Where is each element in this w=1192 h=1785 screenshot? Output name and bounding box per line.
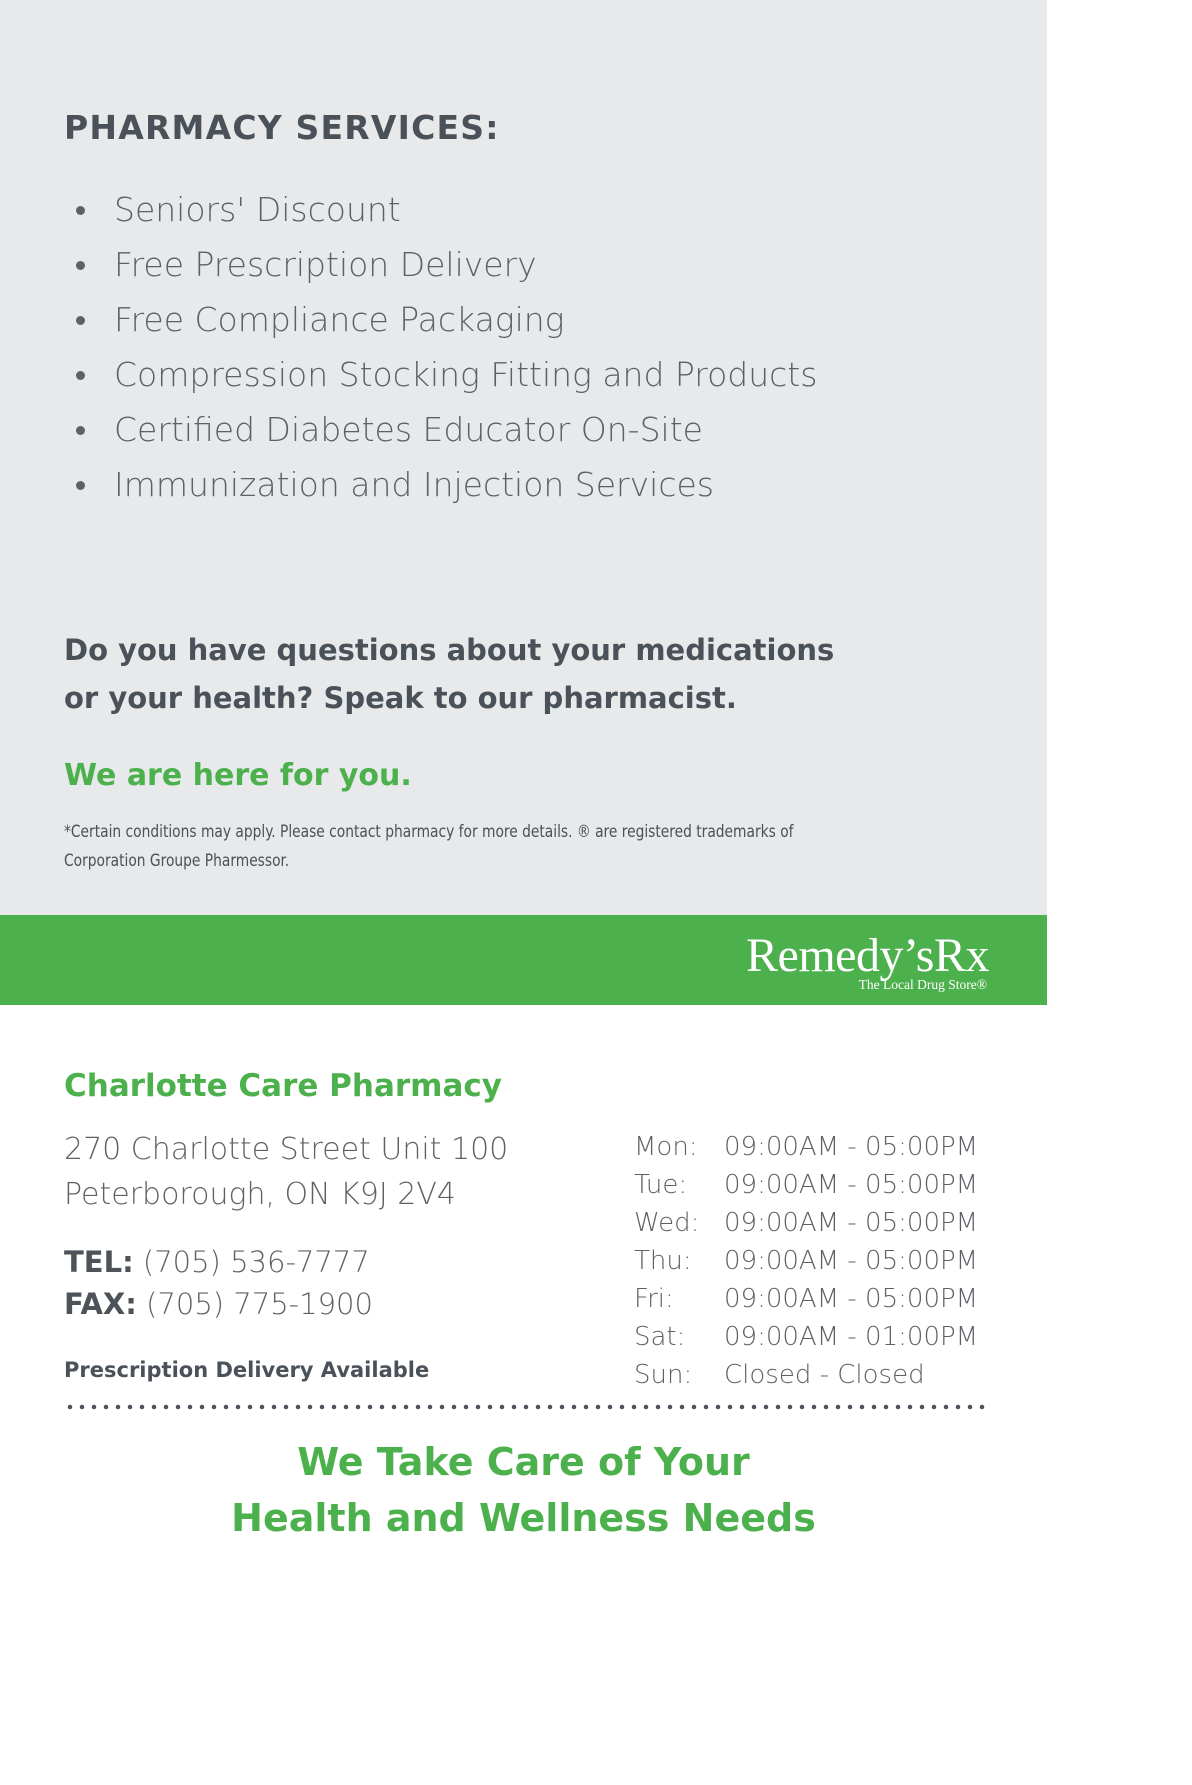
fax-row: FAX: (705) 775-1900	[64, 1283, 373, 1325]
table-row: Wed: 09:00AM - 05:00PM	[634, 1204, 978, 1242]
list-item: Free Prescription Delivery	[64, 237, 817, 292]
bullet-icon	[76, 206, 85, 215]
hours-day-value: Closed - Closed	[724, 1356, 978, 1394]
question-line-2: or your health? Speak to our pharmacist.	[64, 674, 834, 722]
store-hours-table: Mon: 09:00AM - 05:00PM Tue: 09:00AM - 05…	[634, 1128, 978, 1394]
dotted-divider	[64, 1404, 988, 1410]
telephone-row: TEL: (705) 536-7777	[64, 1241, 373, 1283]
page-title: PHARMACY SERVICES:	[64, 108, 500, 147]
question-line-1: Do you have questions about your medicat…	[64, 626, 834, 674]
list-item: Compression Stocking Fitting and Product…	[64, 347, 817, 402]
disclaimer-line-2: Corporation Groupe Pharmessor.	[64, 846, 882, 875]
table-row: Mon: 09:00AM - 05:00PM	[634, 1128, 978, 1166]
bullet-icon	[76, 481, 85, 490]
fax-label: FAX:	[64, 1287, 137, 1321]
delivery-availability-note: Prescription Delivery Available	[64, 1358, 429, 1382]
store-contact: TEL: (705) 536-7777 FAX: (705) 775-1900	[64, 1241, 373, 1325]
table-row: Thu: 09:00AM - 05:00PM	[634, 1242, 978, 1280]
bullet-icon	[76, 261, 85, 270]
table-row: Fri: 09:00AM - 05:00PM	[634, 1280, 978, 1318]
tagline-line-2: Health and Wellness Needs	[0, 1490, 1047, 1546]
flyer-page: PHARMACY SERVICES: Seniors' Discount Fre…	[0, 0, 1192, 1785]
service-label: Immunization and Injection Services	[114, 465, 714, 504]
bullet-icon	[76, 371, 85, 380]
service-label: Free Prescription Delivery	[114, 245, 537, 284]
table-row: Tue: 09:00AM - 05:00PM	[634, 1166, 978, 1204]
here-for-you-tagline: We are here for you.	[64, 758, 412, 793]
pharmacy-services-panel: PHARMACY SERVICES: Seniors' Discount Fre…	[0, 0, 1047, 915]
disclaimer-text: *Certain conditions may apply. Please co…	[64, 817, 882, 875]
service-label: Certified Diabetes Educator On-Site	[114, 410, 703, 449]
table-row: Sat: 09:00AM - 01:00PM	[634, 1318, 978, 1356]
list-item: Immunization and Injection Services	[64, 457, 817, 512]
disclaimer-line-1: *Certain conditions may apply. Please co…	[64, 817, 882, 846]
hours-day-label: Thu:	[634, 1242, 724, 1280]
store-name: Charlotte Care Pharmacy	[64, 1068, 502, 1104]
brand-banner: Remedy’sRx The Local Drug Store®	[0, 915, 1047, 1005]
hours-day-value: 09:00AM - 01:00PM	[724, 1318, 978, 1356]
service-label: Compression Stocking Fitting and Product…	[114, 355, 817, 394]
list-item: Seniors' Discount	[64, 182, 817, 237]
pharmacist-question-block: Do you have questions about your medicat…	[64, 626, 834, 722]
fax-value[interactable]: (705) 775-1900	[146, 1287, 373, 1321]
table-row: Sun: Closed - Closed	[634, 1356, 978, 1394]
hours-day-label: Tue:	[634, 1166, 724, 1204]
logo-wordmark: Remedy’sRx	[746, 931, 989, 981]
remedysrx-logo: Remedy’sRx The Local Drug Store®	[746, 931, 989, 992]
bullet-icon	[76, 316, 85, 325]
services-list: Seniors' Discount Free Prescription Deli…	[64, 182, 817, 512]
store-address: 270 Charlotte Street Unit 100 Peterborou…	[64, 1127, 508, 1217]
hours-day-label: Wed:	[634, 1204, 724, 1242]
list-item: Free Compliance Packaging	[64, 292, 817, 347]
hours-day-label: Sun:	[634, 1356, 724, 1394]
hours-day-value: 09:00AM - 05:00PM	[724, 1128, 978, 1166]
bottom-tagline: We Take Care of Your Health and Wellness…	[0, 1434, 1047, 1546]
hours-day-value: 09:00AM - 05:00PM	[724, 1280, 978, 1318]
service-label: Free Compliance Packaging	[114, 300, 564, 339]
hours-day-value: 09:00AM - 05:00PM	[724, 1204, 978, 1242]
hours-day-label: Fri:	[634, 1280, 724, 1318]
address-line-2: Peterborough, ON K9J 2V4	[64, 1172, 508, 1217]
telephone-value[interactable]: (705) 536-7777	[143, 1245, 370, 1279]
hours-day-label: Sat:	[634, 1318, 724, 1356]
bullet-icon	[76, 426, 85, 435]
list-item: Certified Diabetes Educator On-Site	[64, 402, 817, 457]
hours-day-value: 09:00AM - 05:00PM	[724, 1166, 978, 1204]
hours-day-value: 09:00AM - 05:00PM	[724, 1242, 978, 1280]
telephone-label: TEL:	[64, 1245, 134, 1279]
tagline-line-1: We Take Care of Your	[0, 1434, 1047, 1490]
hours-day-label: Mon:	[634, 1128, 724, 1166]
service-label: Seniors' Discount	[114, 190, 401, 229]
address-line-1: 270 Charlotte Street Unit 100	[64, 1127, 508, 1172]
